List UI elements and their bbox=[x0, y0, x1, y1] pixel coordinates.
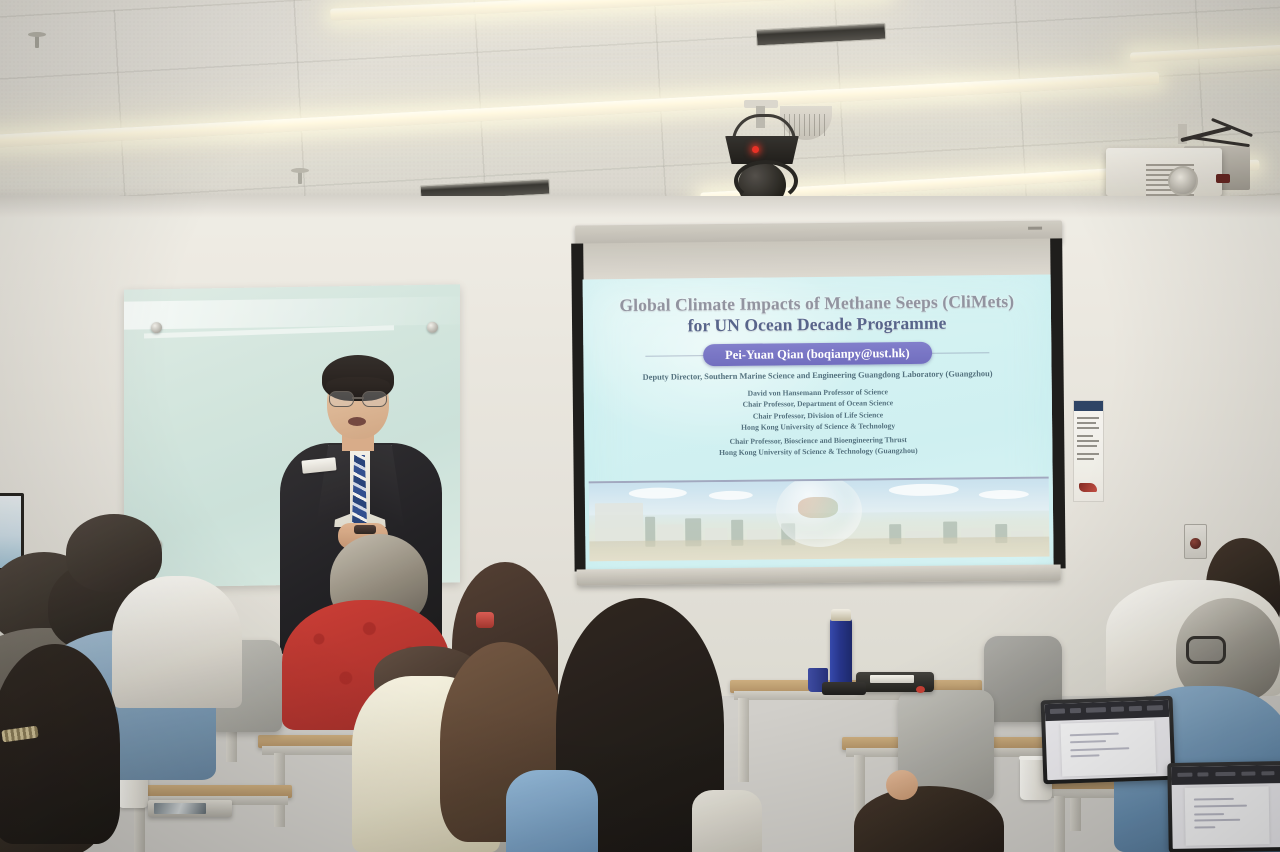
whiteboard-mount-bolt-icon bbox=[151, 322, 162, 333]
presentation-clicker[interactable] bbox=[354, 525, 376, 534]
presenter-mouth bbox=[348, 417, 366, 426]
slide-title-line2: for UN Ocean Decade Programme bbox=[583, 312, 1051, 338]
projection-screen: Global Climate Impacts of Methane Seeps … bbox=[565, 220, 1069, 608]
whiteboard-mount-bolt-icon bbox=[427, 322, 438, 333]
projector-lens-icon bbox=[1168, 166, 1198, 196]
projector-cables bbox=[1180, 128, 1260, 154]
slide-affiliations-block-1: David von Hansemann Professor of Science… bbox=[584, 385, 1052, 435]
mobile-phone[interactable] bbox=[822, 682, 866, 695]
right-wall-poster bbox=[1073, 400, 1104, 502]
laptop[interactable] bbox=[1041, 696, 1176, 785]
eyeglasses-icon bbox=[329, 391, 387, 406]
eyeglasses-icon bbox=[1186, 636, 1226, 664]
blouse bbox=[692, 790, 762, 852]
projector-cable-connector bbox=[1216, 174, 1230, 183]
slide-bubble-graphic bbox=[776, 477, 863, 548]
booklet[interactable] bbox=[148, 800, 232, 817]
wall-control-panel[interactable] bbox=[1184, 524, 1207, 559]
ceiling-projector bbox=[1106, 140, 1256, 202]
lecture-hall-photo: Global Climate Impacts of Methane Seeps … bbox=[0, 0, 1280, 852]
cardigan bbox=[506, 770, 598, 852]
equipment-pouch[interactable] bbox=[856, 672, 934, 692]
laptop[interactable] bbox=[1167, 761, 1280, 852]
whiteboard-glare bbox=[124, 296, 460, 329]
hand-icon bbox=[886, 770, 918, 800]
slide-affiliations-block-2: Chair Professor, Bioscience and Bioengin… bbox=[584, 433, 1052, 461]
slide-campus-panorama bbox=[589, 477, 1050, 562]
presentation-slide: Global Climate Impacts of Methane Seeps … bbox=[583, 275, 1054, 572]
ceiling-camera bbox=[716, 100, 808, 208]
camera-status-led-icon bbox=[752, 146, 759, 153]
sprinkler-icon bbox=[295, 168, 305, 184]
projector-body bbox=[1106, 148, 1222, 196]
sprinkler-icon bbox=[32, 32, 42, 48]
slide-title: Global Climate Impacts of Methane Seeps … bbox=[583, 291, 1051, 339]
vacuum-flask[interactable] bbox=[830, 618, 852, 690]
wall-ceiling-joint bbox=[0, 196, 1280, 218]
hair-clip-icon bbox=[476, 612, 494, 628]
slide-speaker-badge: Pei-Yuan Qian (boqianpy@ust.hk) bbox=[703, 342, 932, 366]
